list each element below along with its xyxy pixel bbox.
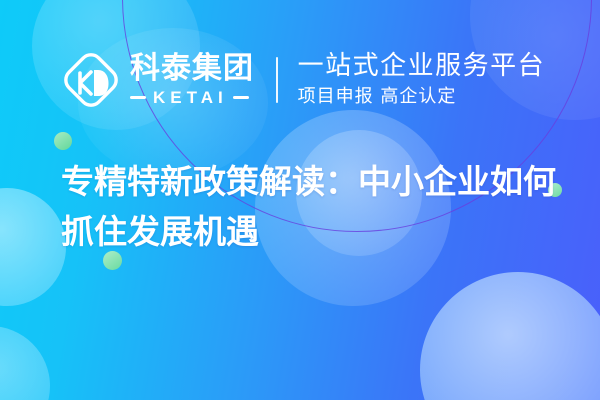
header-divider <box>276 57 278 103</box>
decorative-dot-green-1 <box>54 132 72 150</box>
headline: 专精特新政策解读：中小企业如何 抓住发展机遇 <box>61 157 561 257</box>
brand-name-cn: 科泰集团 <box>130 53 254 85</box>
tagline-primary: 一站式企业服务平台 <box>298 51 546 81</box>
brand-name-en: KETAI <box>153 88 228 108</box>
brand-logo-wordmark: 科泰集团 KETAI <box>130 53 254 108</box>
headline-line-1: 专精特新政策解读：中小企业如何 <box>61 157 561 207</box>
brand-name-en-row: KETAI <box>130 88 254 108</box>
decorative-circle-left <box>0 188 66 306</box>
decorative-circle-bottom-left <box>0 326 50 400</box>
ketai-diamond-kd-logo-icon <box>60 49 122 111</box>
headline-line-2: 抓住发展机遇 <box>61 207 561 257</box>
dash-left-icon <box>130 96 146 99</box>
brand-logo[interactable]: 科泰集团 KETAI <box>60 49 254 111</box>
tagline-secondary: 项目申报 高企认定 <box>298 85 546 109</box>
dash-right-icon <box>233 96 249 99</box>
decorative-circle-bottom-right <box>420 272 600 400</box>
banner-header: 科泰集团 KETAI 一站式企业服务平台 项目申报 高企认定 <box>0 40 600 120</box>
tagline-block: 一站式企业服务平台 项目申报 高企认定 <box>298 51 546 109</box>
promo-banner: 科泰集团 KETAI 一站式企业服务平台 项目申报 高企认定 专精特新政策解读：… <box>0 0 600 400</box>
